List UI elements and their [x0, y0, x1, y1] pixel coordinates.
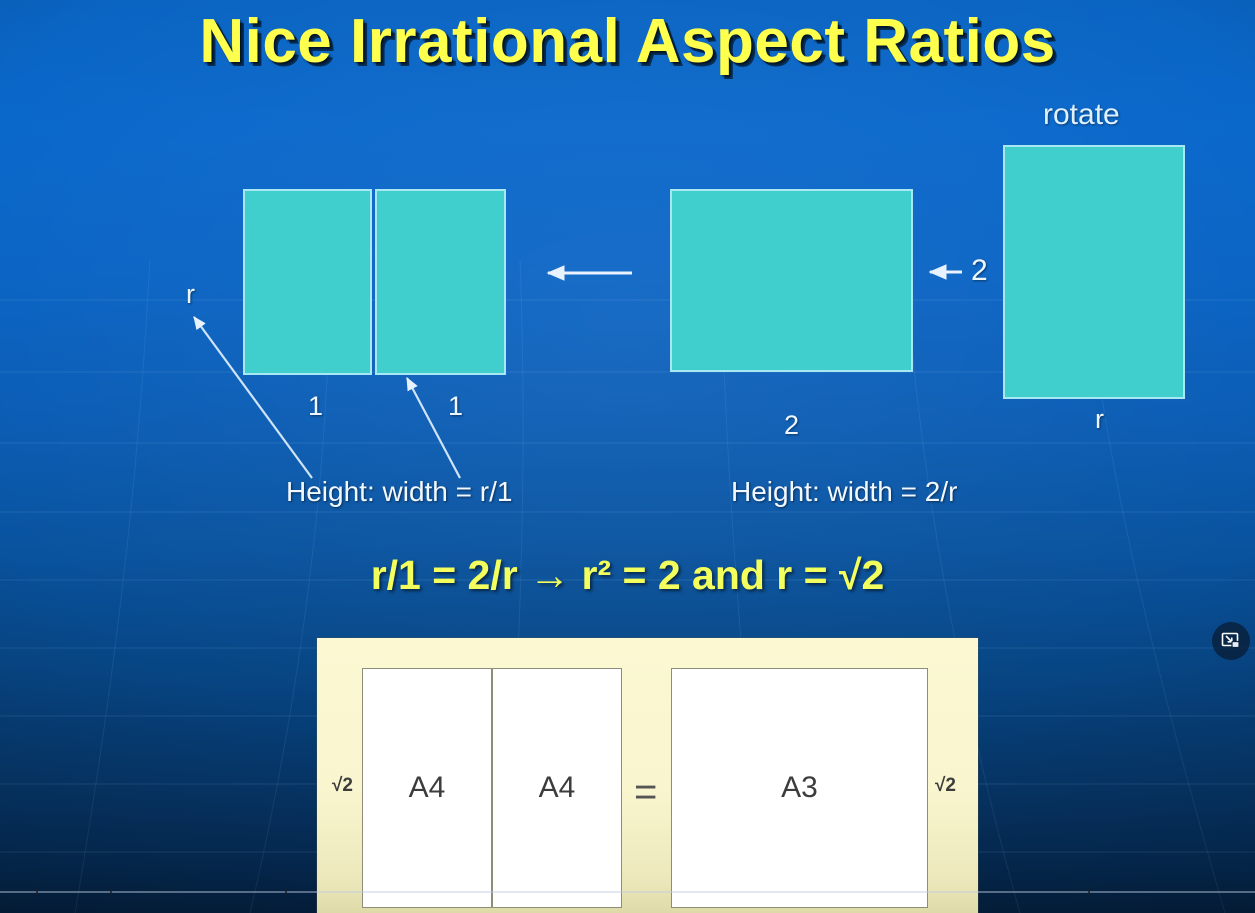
miniplayer-icon	[1221, 631, 1241, 651]
a-series-paper-panel: A4 A4 A3 = √2 √2 1 1 2 1 : √2 = √2 : 2	[317, 638, 978, 913]
panel-equals-sign: =	[634, 770, 657, 815]
right-height-label: 2	[971, 254, 988, 288]
panel-sqrt-right: √2	[935, 775, 956, 797]
progress-tick	[1088, 888, 1090, 896]
teal-rect-middle	[670, 189, 913, 372]
left-width-label-b: 1	[448, 391, 463, 422]
progress-tick	[36, 888, 38, 896]
left-caption: Height: width = r/1	[286, 476, 512, 508]
teal-rect-left-b	[375, 189, 506, 375]
rotate-label: rotate	[1043, 98, 1120, 132]
teal-rect-left-a	[243, 189, 372, 375]
paper-a4-right: A4	[492, 668, 622, 908]
equation-line: r/1 = 2/r → r² = 2 and r = √2	[0, 552, 1255, 599]
panel-sqrt-left: √2	[332, 775, 353, 797]
left-width-label-a: 1	[308, 391, 323, 422]
miniplayer-button[interactable]	[1212, 622, 1250, 660]
right-caption: Height: width = 2/r	[731, 476, 957, 508]
progress-tick	[285, 888, 287, 896]
slide-canvas: Nice Irrational Aspect Ratios rotate r 1…	[0, 0, 1255, 913]
middle-width-label: 2	[784, 410, 799, 441]
left-height-label-r: r	[186, 279, 195, 310]
right-width-label-r: r	[1095, 404, 1104, 435]
paper-a3: A3	[671, 668, 928, 908]
progress-hairline[interactable]	[0, 891, 1255, 893]
teal-rect-right	[1003, 145, 1185, 399]
page-title: Nice Irrational Aspect Ratios	[0, 6, 1255, 77]
paper-a4-left: A4	[362, 668, 492, 908]
progress-tick	[110, 888, 112, 896]
